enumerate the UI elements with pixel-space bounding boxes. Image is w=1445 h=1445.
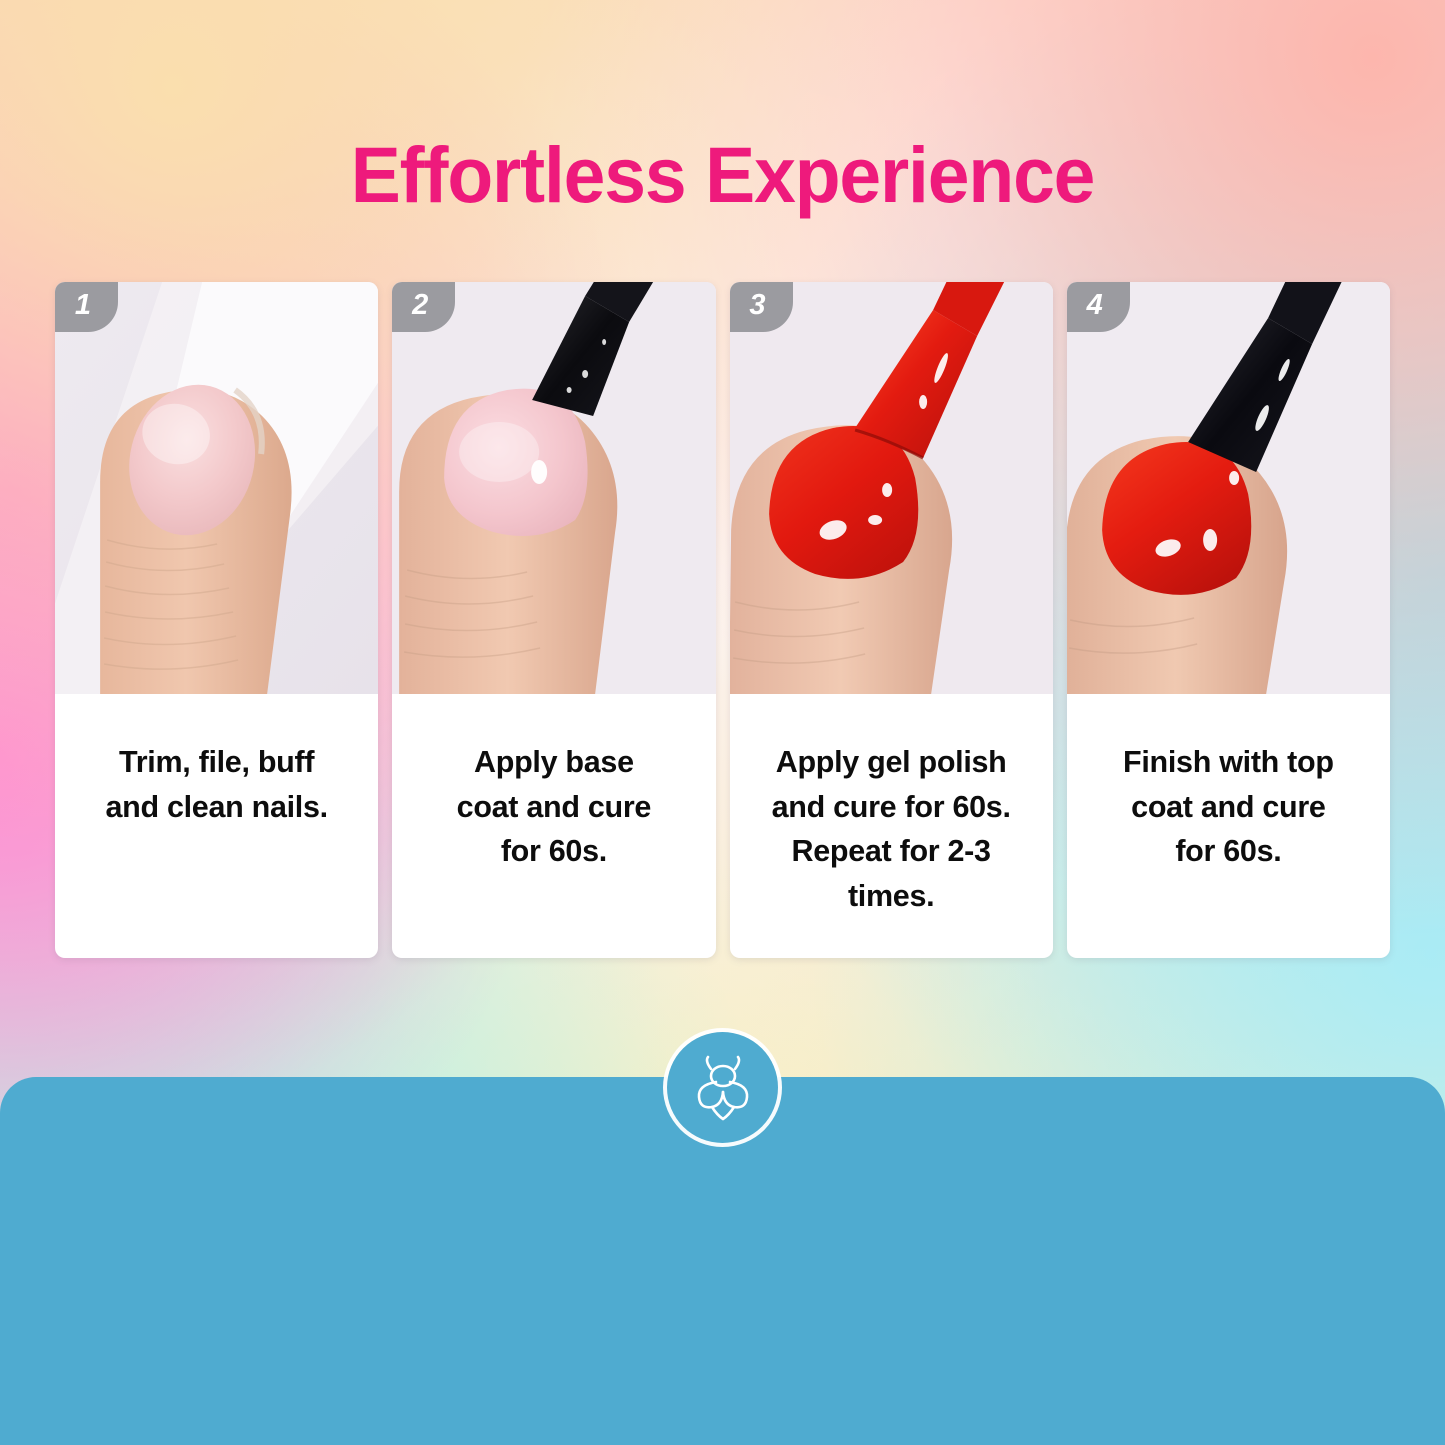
page-title: Effortless Experience bbox=[36, 129, 1409, 221]
step-caption: Apply gel polish and cure for 60s. Repea… bbox=[730, 694, 1053, 958]
step-card-4[interactable]: 4 Finish with top coat and cure for 60s. bbox=[1067, 282, 1390, 958]
step-caption: Apply base coat and cure for 60s. bbox=[392, 694, 715, 958]
steps-row: 1 Trim, file, buff and clean nails. bbox=[55, 282, 1390, 958]
step-card-1[interactable]: 1 Trim, file, buff and clean nails. bbox=[55, 282, 378, 958]
step-3-photo bbox=[730, 282, 1053, 694]
top-coat-brush-illustration bbox=[1067, 282, 1390, 694]
step-4-photo bbox=[1067, 282, 1390, 694]
base-coat-brush-illustration bbox=[392, 282, 715, 694]
step-1-photo bbox=[55, 282, 378, 694]
step-caption: Finish with top coat and cure for 60s. bbox=[1067, 694, 1390, 958]
bare-nail-illustration bbox=[55, 282, 378, 694]
step-card-3[interactable]: 3 Apply gel polish and cure for 60s. Rep… bbox=[730, 282, 1053, 958]
red-gel-polish-illustration bbox=[730, 282, 1053, 694]
butterfly-loops-logo-icon bbox=[686, 1051, 760, 1125]
step-card-2[interactable]: 2 Apply base coat and cure for 60s. bbox=[392, 282, 715, 958]
step-caption: Trim, file, buff and clean nails. bbox=[55, 694, 378, 958]
brand-logo-badge bbox=[667, 1032, 778, 1143]
step-2-photo bbox=[392, 282, 715, 694]
